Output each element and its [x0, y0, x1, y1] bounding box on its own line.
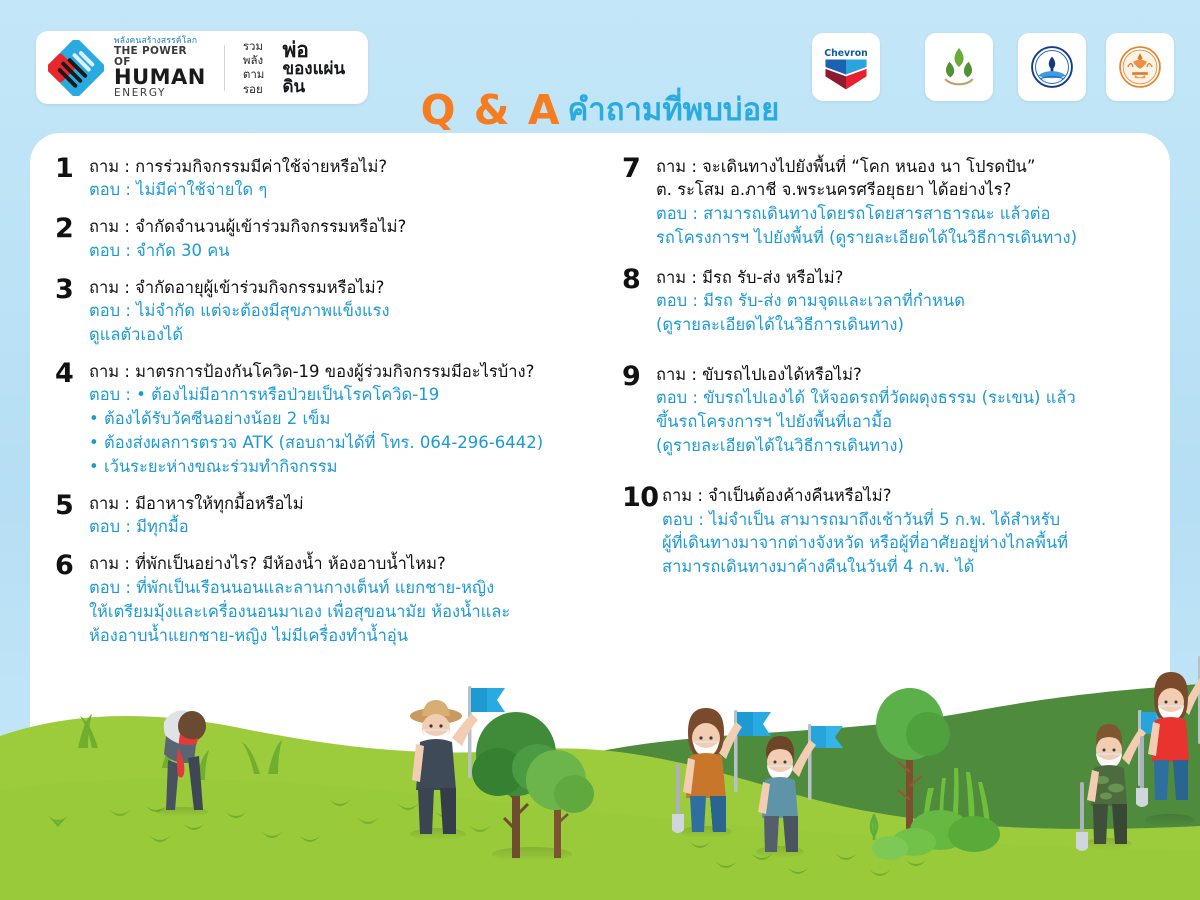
- faq-answer-4-line-3: • ต้องส่งผลการตรวจ ATK (สอบถามได้ที่ โทร…: [89, 431, 610, 455]
- faq-answer-5-line-1: ตอบ : มีทุกมื้อ: [89, 515, 610, 539]
- scenery-illustration: [0, 640, 1200, 900]
- shovel-handle: [1140, 736, 1144, 790]
- chevron-wordmark: Chevron: [824, 48, 868, 59]
- faq-number-5: 5: [55, 492, 89, 539]
- faq-body-8: ถาม : มีรถ รับ-ส่ง หรือไม่? ตอบ : มีรถ ร…: [656, 266, 1170, 337]
- shovel-blade: [1076, 832, 1088, 851]
- faq-answer-10-line-3: สามารถเดินทางมาค้างคืนในวันที่ 4 ก.พ. ได…: [662, 555, 1170, 579]
- faq-question-1: ถาม : การร่วมกิจกรรมมีค่าใช้จ่ายหรือไม่?: [89, 155, 610, 178]
- faq-answer-6-line-1: ตอบ : ที่พักเป็นเรือนนอนและลานกางเต็นท์ …: [89, 576, 610, 600]
- faq-item-5: 5 ถาม : มีอาหารให้ทุกมื้อหรือไม่ ตอบ : ม…: [55, 492, 610, 539]
- faq-answer-7-line-2: รถโครงการฯ ไปยังพื้นที่ (ดูรายละเอียดได้…: [656, 226, 1170, 250]
- faq-answer-10-line-2: ผู้ที่เดินทางมาจากต่างจังหวัด หรือผู้ที่…: [662, 531, 1170, 555]
- faq-question-7-line-1: ถาม : จะเดินทางไปยังพื้นที่ “โคก หนอง นา…: [656, 155, 1170, 178]
- page-background: พลังคนสร้างสรรค์โลก THE POWER OF HUMAN E…: [0, 0, 1200, 900]
- faq-number-8: 8: [622, 266, 656, 337]
- faq-item-4: 4 ถาม : มาตรการป้องกันโควิด-19 ของผู้ร่ว…: [55, 360, 610, 479]
- qa-title-th: คำถามที่พบบ่อย: [568, 95, 780, 126]
- faq-number-4: 4: [55, 360, 89, 479]
- faq-answer-8-line-1: ตอบ : มีรถ รับ-ส่ง ตามจุดและเวลาที่กำหนด: [656, 289, 1170, 313]
- faq-question-9: ถาม : ขับรถไปเองได้หรือไม่?: [656, 363, 1170, 386]
- brand-line-1: THE POWER OF: [114, 46, 206, 67]
- faq-item-8: 8 ถาม : มีรถ รับ-ส่ง หรือไม่? ตอบ : มีรถ…: [622, 266, 1170, 337]
- bush-4: [872, 836, 908, 860]
- faq-item-7: 7 ถาม : จะเดินทางไปยังพื้นที่ “โคก หนอง …: [622, 155, 1170, 250]
- faq-answer-9-line-2: ขึ้นรถโครงการฯ ไปยังพื้นที่เอามื้อ: [656, 410, 1170, 434]
- faq-number-9: 9: [622, 363, 656, 458]
- faq-number-2: 2: [55, 215, 89, 262]
- faq-item-2: 2 ถาม : จำกัดจำนวนผู้เข้าร่วมกิจกรรมหรือ…: [55, 215, 610, 262]
- flag-pole: [808, 724, 812, 800]
- faq-body-7: ถาม : จะเดินทางไปยังพื้นที่ “โคก หนอง นา…: [656, 155, 1170, 250]
- faq-question-8: ถาม : มีรถ รับ-ส่ง หรือไม่?: [656, 266, 1170, 289]
- faq-question-6: ถาม : ที่พักเป็นอย่างไร? มีห้องน้ำ ห้องอ…: [89, 552, 610, 575]
- faq-answer-2-line-1: ตอบ : จำกัด 30 คน: [89, 239, 610, 263]
- shovel-blade: [1136, 788, 1148, 807]
- faq-item-1: 1 ถาม : การร่วมกิจกรรมมีค่าใช้จ่ายหรือไม…: [55, 155, 610, 202]
- shovel-handle: [676, 764, 680, 816]
- faq-answer-10-line-1: ตอบ : ไม่จำเป็น สามารถมาถึงเช้าวันที่ 5 …: [662, 508, 1170, 532]
- faq-body-9: ถาม : ขับรถไปเองได้หรือไม่? ตอบ : ขับรถไ…: [656, 363, 1170, 458]
- faq-question-10: ถาม : จำเป็นต้องค้างคืนหรือไม่?: [662, 484, 1170, 507]
- faq-body-6: ถาม : ที่พักเป็นอย่างไร? มีห้องน้ำ ห้องอ…: [89, 552, 610, 647]
- faq-answer-4-line-1: ตอบ : • ต้องไม่มีอาการหรือป่วยเป็นโรคโคว…: [89, 383, 610, 407]
- faq-question-4: ถาม : มาตรการป้องกันโควิด-19 ของผู้ร่วมก…: [89, 360, 610, 383]
- faq-answer-3-line-2: ดูแลตัวเองได้: [89, 323, 610, 347]
- faq-item-10: 10 ถาม : จำเป็นต้องค้างคืนหรือไม่? ตอบ :…: [622, 484, 1170, 579]
- faq-question-5: ถาม : มีอาหารให้ทุกมื้อหรือไม่: [89, 492, 610, 515]
- faq-number-10: 10: [622, 484, 662, 579]
- faq-body-4: ถาม : มาตรการป้องกันโควิด-19 ของผู้ร่วมก…: [89, 360, 610, 479]
- faq-answer-9-line-3: (ดูรายละเอียดได้ในวิธีการเดินทาง): [656, 434, 1170, 458]
- faq-body-10: ถาม : จำเป็นต้องค้างคืนหรือไม่? ตอบ : ไม…: [662, 484, 1170, 579]
- faq-body-1: ถาม : การร่วมกิจกรรมมีค่าใช้จ่ายหรือไม่?…: [89, 155, 610, 202]
- faq-answer-6-line-2: ให้เตรียมมุ้งและเครื่องนอนมาเอง เพื่อสุข…: [89, 600, 610, 624]
- faq-body-2: ถาม : จำกัดจำนวนผู้เข้าร่วมกิจกรรมหรือไม…: [89, 215, 610, 262]
- faq-answer-4-line-4: • เว้นระยะห่างขณะร่วมทำกิจกรรม: [89, 455, 610, 479]
- faq-answer-9-line-1: ตอบ : ขับรถไปเองได้ ให้จอดรถที่วัดผดุงธร…: [656, 386, 1170, 410]
- faq-answer-1-line-1: ตอบ : ไม่มีค่าใช้จ่ายใด ๆ: [89, 178, 610, 202]
- brand-tagline-th: พลังคนสร้างสรรค์โลก: [114, 37, 206, 46]
- shovel-blade: [672, 814, 684, 833]
- faq-number-7: 7: [622, 155, 656, 250]
- faq-number-3: 3: [55, 276, 89, 347]
- flag-pole: [734, 710, 738, 792]
- faq-number-1: 1: [55, 155, 89, 202]
- page-title: Q & A คำถามที่พบบ่อย: [0, 86, 1200, 134]
- brand-right-small-line-1: รวมพลัง: [243, 39, 279, 68]
- faq-number-6: 6: [55, 552, 89, 647]
- faq-item-3: 3 ถาม : จำกัดอายุผู้เข้าร่วมกิจกรรมหรือไ…: [55, 276, 610, 347]
- faq-answer-3-line-1: ตอบ : ไม่จำกัด แต่จะต้องมีสุขภาพแข็งแรง: [89, 299, 610, 323]
- faq-answer-8-line-2: (ดูรายละเอียดได้ในวิธีการเดินทาง): [656, 313, 1170, 337]
- shovel-handle: [1080, 782, 1084, 834]
- brand-line-2: HUMAN: [114, 67, 206, 88]
- faq-item-9: 9 ถาม : ขับรถไปเองได้หรือไม่? ตอบ : ขับร…: [622, 363, 1170, 458]
- faq-question-2: ถาม : จำกัดจำนวนผู้เข้าร่วมกิจกรรมหรือไม…: [89, 215, 610, 238]
- faq-answer-7-line-1: ตอบ : สามารถเดินทางโดยรถโดยสารสาธารณะ แล…: [656, 202, 1170, 226]
- scenery-svg: [0, 640, 1200, 900]
- bush-2: [948, 816, 1000, 852]
- faq-question-7-line-2: ต. ระโสม อ.ภาชี จ.พระนครศรีอยุธยา ได้อย่…: [656, 178, 1170, 201]
- faq-body-3: ถาม : จำกัดอายุผู้เข้าร่วมกิจกรรมหรือไม่…: [89, 276, 610, 347]
- faq-question-3: ถาม : จำกัดอายุผู้เข้าร่วมกิจกรรมหรือไม่…: [89, 276, 610, 299]
- faq-answer-4-line-2: • ต้องได้รับวัคซีนอย่างน้อย 2 เข็ม: [89, 407, 610, 431]
- faq-body-5: ถาม : มีอาหารให้ทุกมื้อหรือไม่ ตอบ : มีท…: [89, 492, 610, 539]
- faq-item-6: 6 ถาม : ที่พักเป็นอย่างไร? มีห้องน้ำ ห้อ…: [55, 552, 610, 647]
- brand-divider: [224, 45, 225, 91]
- qa-title-en: Q & A: [421, 90, 562, 131]
